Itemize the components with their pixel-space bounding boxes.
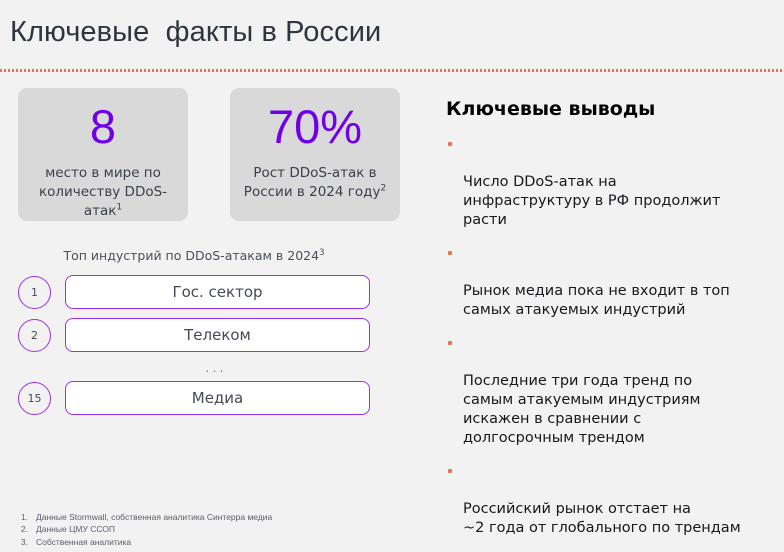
stat-card-growth: 70% Рост DDoS-атак в России в 2024 году2 [230, 88, 400, 221]
industry-pill[interactable]: Гос. сектор [65, 275, 370, 309]
stat-label-text: место в мире по количеству DDoS-атак [39, 165, 167, 219]
list-item: Число DDoS-атак на инфраструктуру в РФ п… [446, 135, 784, 230]
industry-pill[interactable]: Телеком [65, 318, 370, 352]
ranking-caption-footnote-ref: 3 [319, 248, 324, 258]
industry-pill[interactable]: Медиа [65, 381, 370, 415]
ranking-caption-text: Топ индустрий по DDoS-атакам в 2024 [63, 248, 319, 263]
finding-text: Последние три года тренд по самым атакуе… [463, 373, 700, 446]
ranking-ellipsis: ... [18, 361, 370, 377]
ranking-list: 1 Гос. сектор 2 Телеком ... 15 Медиа [18, 275, 370, 415]
bullet-icon [448, 251, 452, 255]
stat-label-footnote-ref: 1 [116, 203, 122, 213]
list-item: Последние три года тренд по самым атакуе… [446, 334, 784, 448]
stat-card-group: 8 место в мире по количеству DDoS-атак1 … [18, 88, 440, 221]
stat-card-rank: 8 место в мире по количеству DDoS-атак1 [18, 88, 188, 221]
footnote-text: Данные Stormwall, собственная аналитика … [36, 511, 272, 524]
list-item[interactable]: 1 Гос. сектор [18, 275, 370, 309]
list-item[interactable]: 15 Медиа [18, 381, 370, 415]
bullet-icon [448, 142, 452, 146]
list-item[interactable]: 2 Телеком [18, 318, 370, 352]
rank-badge: 1 [18, 276, 51, 309]
stat-label-footnote-ref: 2 [380, 184, 386, 194]
findings-list: Число DDoS-атак на инфраструктуру в РФ п… [446, 135, 784, 538]
finding-text: Число DDoS-атак на инфраструктуру в РФ п… [463, 174, 720, 228]
footnote-item: 2. Данные ЦМУ ССОП [16, 523, 436, 536]
list-item: Рынок медиа пока не входит в топ самых а… [446, 244, 784, 320]
rank-badge: 15 [18, 382, 51, 415]
footnote-item: 1. Данные Stormwall, собственная аналити… [16, 511, 436, 524]
footnote-text: Данные ЦМУ ССОП [36, 523, 115, 536]
findings-heading: Ключевые выводы [446, 98, 784, 120]
stat-value: 70% [268, 96, 362, 158]
left-column: 8 место в мире по количеству DDoS-атак1 … [0, 76, 440, 424]
footnote-text: Собственная аналитика [36, 536, 131, 549]
slide-body: 8 место в мире по количеству DDoS-атак1 … [0, 66, 784, 552]
stat-label-text: Рост DDoS-атак в России в 2024 году [244, 165, 381, 200]
right-column: Ключевые выводы Число DDoS-атак на инфра… [440, 76, 784, 552]
footnote-number: 1. [16, 511, 36, 524]
rank-badge: 2 [18, 319, 51, 352]
footnotes: 1. Данные Stormwall, собственная аналити… [16, 511, 436, 549]
bullet-icon [448, 341, 452, 345]
stat-label: место в мире по количеству DDoS-атак1 [24, 164, 182, 221]
page-title: Ключевые факты в России [10, 12, 784, 52]
title-divider [0, 69, 784, 72]
finding-text: Российский рынок отстает на ~2 года от г… [463, 501, 741, 536]
ranking-caption: Топ индустрий по DDoS-атакам в 20243 [18, 248, 370, 263]
slide-header: Ключевые факты в России [0, 0, 784, 66]
bullet-icon [448, 469, 452, 473]
finding-text: Рынок медиа пока не входит в топ самых а… [463, 283, 730, 318]
stat-value: 8 [90, 96, 116, 158]
footnote-number: 3. [16, 536, 36, 549]
list-item: Российский рынок отстает на ~2 года от г… [446, 462, 784, 538]
footnote-item: 3. Собственная аналитика [16, 536, 436, 549]
stat-label: Рост DDoS-атак в России в 2024 году2 [244, 164, 386, 202]
footnote-number: 2. [16, 523, 36, 536]
